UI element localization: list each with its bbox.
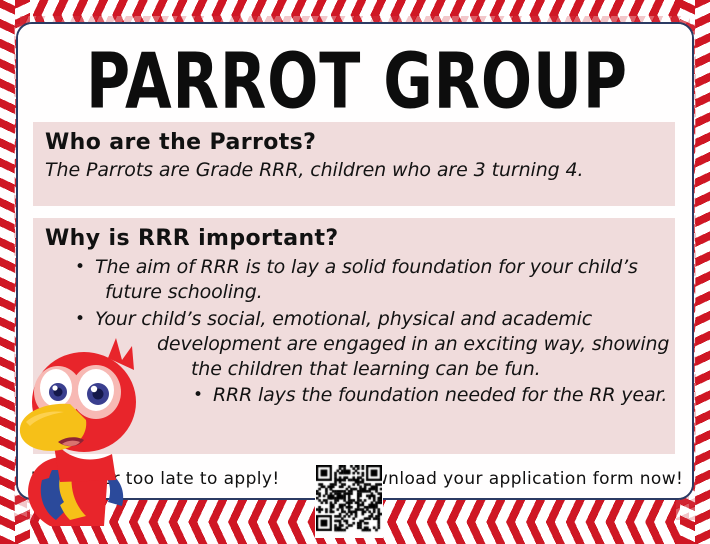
list-item-line: development are engaged in an exciting w… (95, 332, 675, 357)
list-item-line: the children that learning can be fun. (95, 357, 675, 382)
footer-text-right: Download your application form now! (350, 469, 684, 489)
parrot-mascot-icon (12, 330, 152, 530)
list-item-line: The aim of RRR is to lay a solid foundat… (95, 256, 638, 278)
section-heading-who: Who are the Parrots? (33, 122, 675, 155)
list-item: • The aim of RRR is to lay a solid found… (33, 255, 675, 305)
section-panel-who: Who are the Parrots? The Parrots are Gra… (33, 122, 675, 206)
list-item-line: future schooling. (95, 280, 675, 305)
bullet-icon: • (75, 255, 85, 280)
bullet-icon: • (193, 383, 203, 408)
list-item-line: RRR lays the foundation needed for the R… (213, 384, 667, 406)
qr-code-canvas[interactable] (316, 465, 382, 537)
section-body-who: The Parrots are Grade RRR, children who … (33, 155, 675, 181)
section-heading-why: Why is RRR important? (33, 218, 675, 251)
list-item-line: Your child’s social, emotional, physical… (95, 308, 592, 330)
poster-root: PARROT GROUP Who are the Parrots? The Pa… (0, 0, 710, 544)
page-title: PARROT GROUP (42, 42, 673, 119)
qr-code[interactable] (315, 464, 383, 538)
bullet-icon: • (75, 307, 85, 332)
